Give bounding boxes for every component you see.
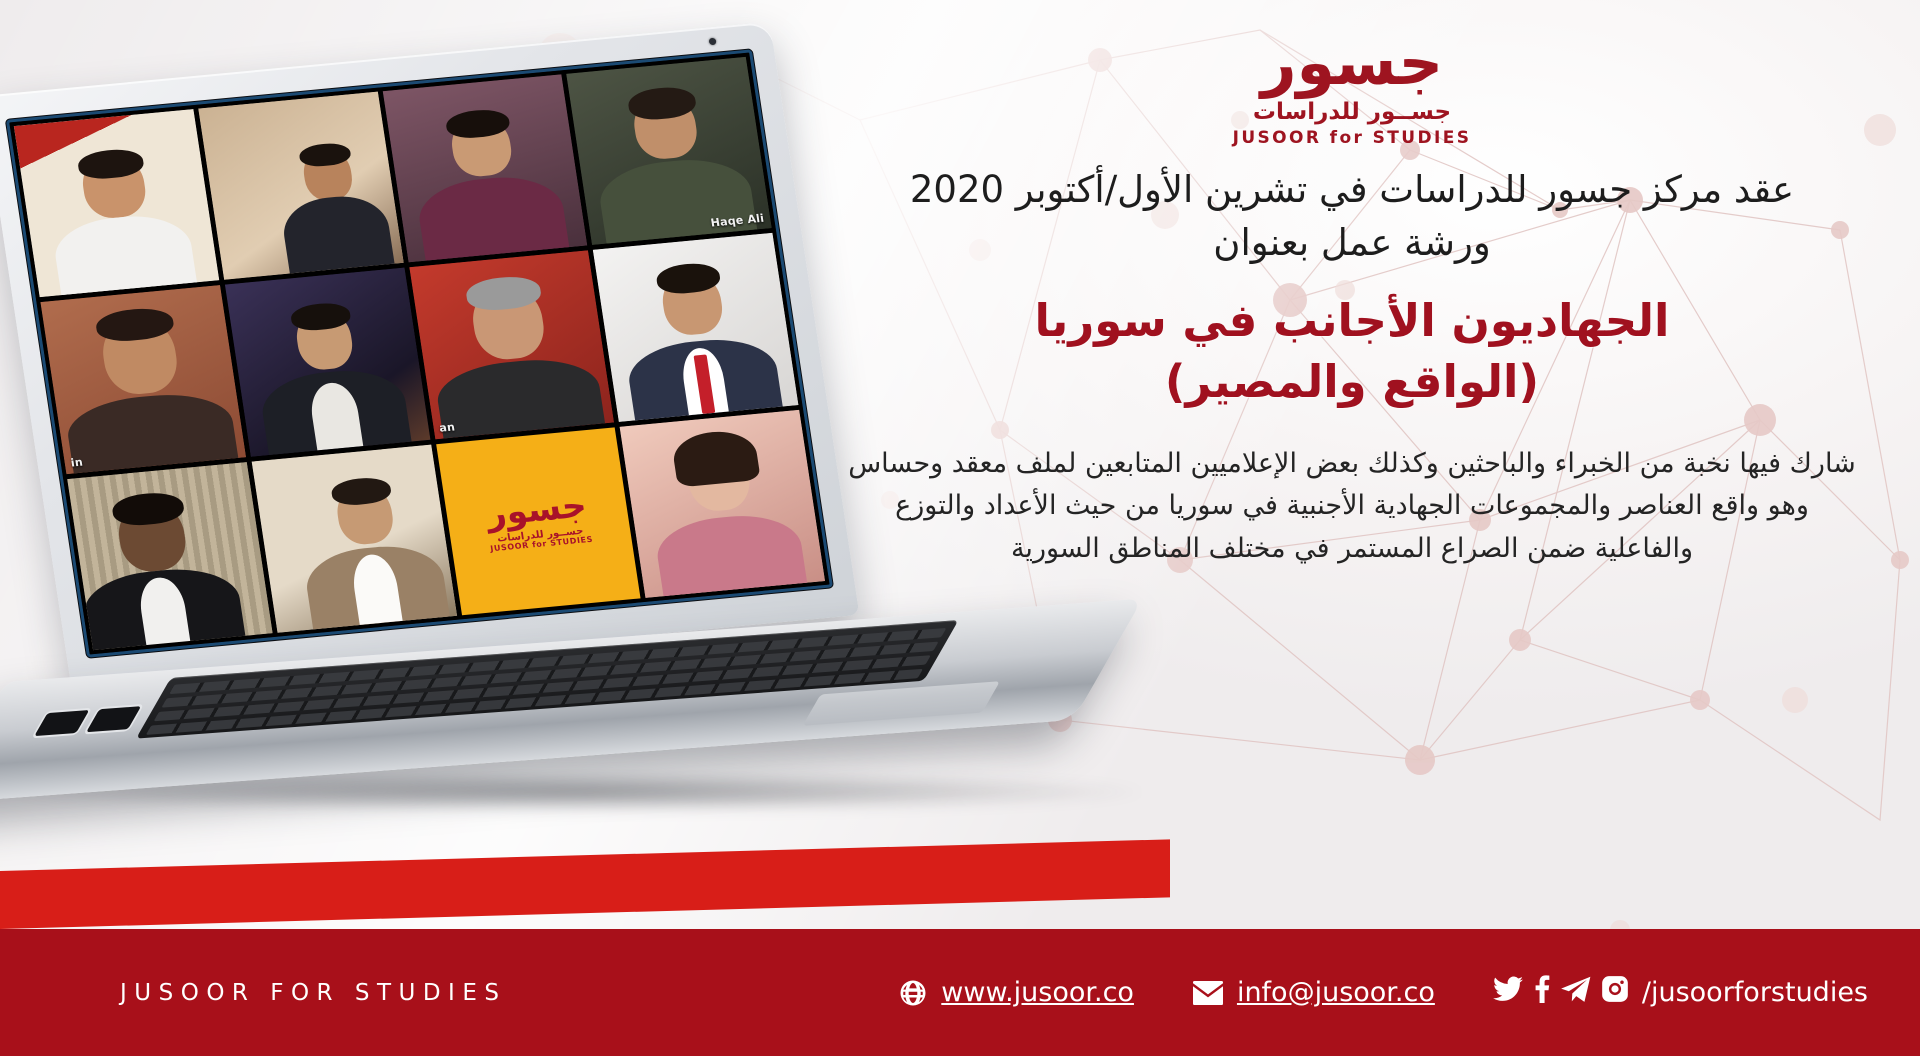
- participant-label: in: [70, 455, 84, 469]
- social-icons[interactable]: [1493, 975, 1629, 1010]
- email-link[interactable]: info@jusoor.co: [1192, 977, 1435, 1008]
- poster-canvas: Haqe Ali in: [0, 0, 1920, 1056]
- social-handle: /jusoorforstudies: [1642, 977, 1868, 1008]
- description-paragraph: شارك فيها نخبة من الخبراء والباحثين وكذل…: [822, 443, 1882, 571]
- video-tile: an: [409, 251, 614, 439]
- laptop-screen: Haqe Ali in: [6, 49, 833, 657]
- jusoor-logo: جسور جســور للدراسات JUSOOR for STUDIES: [822, 34, 1882, 148]
- video-conference-grid: Haqe Ali in: [9, 53, 829, 655]
- video-tile-logo: جسور جســور للدراسات JUSOOR for STUDIES: [436, 427, 641, 615]
- video-tile: [251, 444, 456, 632]
- footer-brand-text: JUSOOR FOR STUDIES: [120, 980, 506, 1006]
- logo-arabic-name: جســور للدراسات: [1253, 99, 1451, 125]
- website-link[interactable]: www.jusoor.co: [898, 977, 1134, 1008]
- instagram-icon[interactable]: [1601, 975, 1629, 1010]
- lead-line-1: عقد مركز جسور للدراسات في تشرين الأول/أك…: [910, 168, 1794, 211]
- email-address: info@jusoor.co: [1237, 977, 1435, 1008]
- footer-contacts: www.jusoor.co info@jusoor.co: [898, 975, 1868, 1010]
- title-line-1: الجهاديون الأجانب في سوريا: [1035, 294, 1670, 347]
- logo-arabic-mark: جسور: [483, 489, 591, 532]
- participant-label: an: [438, 420, 456, 434]
- announcement-content: جسور جســور للدراسات JUSOOR for STUDIES …: [822, 34, 1882, 571]
- video-tile: Haqe Ali: [567, 57, 772, 245]
- telegram-icon[interactable]: [1561, 976, 1591, 1009]
- laptop-lid: Haqe Ali in: [0, 22, 859, 690]
- lead-text: عقد مركز جسور للدراسات في تشرين الأول/أك…: [822, 164, 1882, 269]
- video-tile: [382, 74, 587, 262]
- logo-english-name: JUSOOR for STUDIES: [1233, 128, 1472, 148]
- video-tile: [225, 268, 430, 456]
- globe-icon: [898, 978, 928, 1008]
- title-line-2: (الواقع والمصير): [822, 352, 1882, 413]
- logo-arabic-mark: جسور: [1261, 34, 1443, 91]
- facebook-icon[interactable]: [1533, 975, 1551, 1010]
- video-tile: [198, 92, 403, 280]
- twitter-icon[interactable]: [1493, 976, 1523, 1009]
- video-tile: in: [41, 285, 246, 473]
- footer-bar: JUSOOR FOR STUDIES www.jusoor.co inf: [0, 929, 1920, 1056]
- lead-line-2: ورشة عمل بعنوان: [822, 217, 1882, 270]
- workshop-title: الجهاديون الأجانب في سوريا (الواقع والمص…: [822, 291, 1882, 413]
- social-links[interactable]: /jusoorforstudies: [1493, 975, 1868, 1010]
- video-tile: [593, 233, 798, 421]
- video-tile: [67, 462, 272, 650]
- website-url: www.jusoor.co: [941, 977, 1134, 1008]
- laptop-trackpad: [803, 681, 1001, 726]
- jusoor-logo-tile: جسور جســور للدراسات JUSOOR for STUDIES: [483, 489, 594, 554]
- laptop-ports: [34, 706, 141, 736]
- envelope-icon: [1192, 980, 1224, 1006]
- video-tile: [620, 410, 825, 598]
- video-tile: [14, 109, 219, 297]
- red-desk-surface: [0, 839, 1170, 929]
